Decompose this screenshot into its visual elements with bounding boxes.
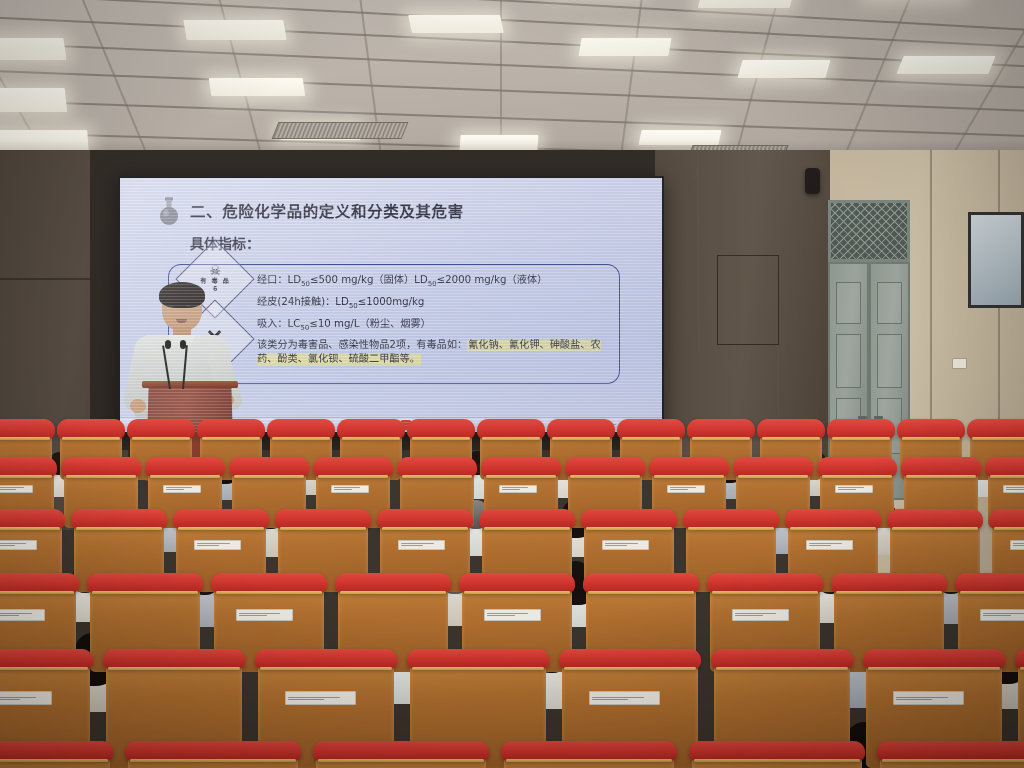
seat-gold-trim <box>622 437 680 440</box>
seat-gold-trim <box>0 475 52 478</box>
seat-gold-trim <box>0 759 108 762</box>
seat-headrest-cushion <box>863 649 1005 669</box>
ceiling-light-panel <box>183 20 287 40</box>
slide-line-inhale: 吸入：LC50≤10 mg/L（粉尘、烟雾） <box>257 317 611 334</box>
seat-headrest-cushion <box>617 419 685 439</box>
seat-gold-trim <box>0 667 88 670</box>
seat-headrest-cushion <box>481 457 561 477</box>
ceiling-rail <box>0 40 1024 91</box>
seat-namecard <box>285 691 356 705</box>
air-vent <box>272 122 409 139</box>
podium-top <box>142 381 238 388</box>
seat-namecard <box>0 485 33 493</box>
seat-gold-trim <box>464 591 570 594</box>
seat-gold-trim <box>716 667 848 670</box>
seat-headrest-cushion <box>407 419 475 439</box>
skull-crossbones-icon: ☠ <box>200 264 230 277</box>
seat-gold-trim <box>178 527 264 530</box>
seat-gold-trim <box>484 527 570 530</box>
seat-headrest-cushion <box>275 509 371 529</box>
seat-gold-trim <box>822 475 892 478</box>
seat-headrest-cushion <box>127 419 195 439</box>
seat-gold-trim <box>0 591 74 594</box>
seat-headrest-cushion <box>967 419 1024 439</box>
seat-headrest-cushion <box>887 509 983 529</box>
seat-headrest-cushion <box>459 573 575 593</box>
seat-gold-trim <box>994 527 1024 530</box>
slide-line-dermal: 经皮(24h接触)：LD50≤1000mg/kg <box>257 295 611 312</box>
seat-gold-trim <box>0 527 60 530</box>
seat-headrest-cushion <box>955 573 1024 593</box>
seat-gold-trim <box>318 475 388 478</box>
seat-headrest-cushion <box>649 457 729 477</box>
seat-headrest-cushion <box>57 419 125 439</box>
side-window <box>968 212 1024 308</box>
seat-gold-trim <box>412 437 470 440</box>
seat-namecard <box>806 540 853 550</box>
seat-gold-trim <box>132 437 190 440</box>
light-switch[interactable] <box>952 358 967 369</box>
seat-headrest-cushion <box>335 573 451 593</box>
seat-headrest-cushion <box>229 457 309 477</box>
seat-gold-trim <box>868 667 1000 670</box>
seat-headrest-cushion <box>407 649 549 669</box>
seat-gold-trim <box>318 759 484 762</box>
seat-headrest-cushion <box>0 649 93 669</box>
seat-gold-trim <box>694 759 860 762</box>
slide-title: 二、危险化学品的定义和分类及其危害 <box>190 200 464 222</box>
seat-headrest-cushion <box>689 741 865 761</box>
seat-namecard <box>602 540 649 550</box>
seat-gold-trim <box>76 527 162 530</box>
ceiling-light-panel <box>578 38 671 56</box>
seat-headrest-cushion <box>103 649 245 669</box>
slide-title-row: 二、危险化学品的定义和分类及其危害 <box>156 196 464 226</box>
slide-line-oral: 经口：LD50≤500 mg/kg（固体）LD50≤2000 mg/kg（液体） <box>257 273 611 290</box>
seat-headrest-cushion <box>0 741 113 761</box>
seat-gold-trim <box>892 527 978 530</box>
seat-namecard <box>236 609 293 621</box>
microphone-head-2 <box>180 340 186 349</box>
seat-gold-trim <box>836 591 942 594</box>
ceiling-light-panel <box>209 78 306 96</box>
presenter-hair <box>159 282 205 308</box>
seat-headrest-cushion <box>71 509 167 529</box>
seat-namecard <box>194 540 241 550</box>
seat-gold-trim <box>66 475 136 478</box>
seat-gold-trim <box>486 475 556 478</box>
seat-gold-trim <box>402 475 472 478</box>
seat-gold-trim <box>762 437 820 440</box>
slide-body-lines: 经口：LD50≤500 mg/kg（固体）LD50≤2000 mg/kg（液体）… <box>257 273 611 367</box>
seat-headrest-cushion <box>785 509 881 529</box>
seat-headrest-cushion <box>711 649 853 669</box>
wall-speaker <box>805 168 820 194</box>
seat-gold-trim <box>586 527 672 530</box>
seat-gold-trim <box>108 667 240 670</box>
seat-gold-trim <box>506 759 672 762</box>
seat-gold-trim <box>738 475 808 478</box>
ceiling-light-panel <box>737 60 830 78</box>
auditorium-seat[interactable] <box>692 750 862 768</box>
seat-headrest-cushion <box>985 457 1024 477</box>
seat-headrest-cushion <box>397 457 477 477</box>
seat-namecard <box>0 609 45 621</box>
seat-gold-trim <box>902 437 960 440</box>
seat-gold-trim <box>92 591 198 594</box>
seat-headrest-cushion <box>173 509 269 529</box>
seat-gold-trim <box>130 759 296 762</box>
seat-headrest-cushion <box>827 419 895 439</box>
auditorium-seat[interactable] <box>880 750 1024 768</box>
seat-headrest-cushion <box>501 741 677 761</box>
slide-line-summary: 该类分为毒害品、感染性物品2项，有毒品如：氰化钠、氰化钾、砷酸盐、农药、酚类、氯… <box>257 339 611 368</box>
seat-headrest-cushion <box>313 457 393 477</box>
seat-headrest-cushion <box>377 509 473 529</box>
seat-gold-trim <box>216 591 322 594</box>
seat-headrest-cushion <box>901 457 981 477</box>
seat-namecard <box>589 691 660 705</box>
seat-namecard <box>163 485 201 493</box>
seat-namecard <box>1003 485 1024 493</box>
seat-headrest-cushion <box>197 419 265 439</box>
seat-gold-trim <box>0 437 50 440</box>
seat-headrest-cushion <box>831 573 947 593</box>
seat-headrest-cushion <box>583 573 699 593</box>
seat-namecard <box>667 485 705 493</box>
seat-gold-trim <box>552 437 610 440</box>
ceiling-light-panel <box>698 0 794 8</box>
seat-namecard <box>0 540 37 550</box>
ceiling-rail <box>0 14 1024 70</box>
seat-gold-trim <box>280 527 366 530</box>
seat-gold-trim <box>564 667 696 670</box>
seat-headrest-cushion <box>267 419 335 439</box>
seat-gold-trim <box>688 527 774 530</box>
seat-headrest-cushion <box>61 457 141 477</box>
seat-headrest-cushion <box>125 741 301 761</box>
seat-headrest-cushion <box>547 419 615 439</box>
seat-headrest-cushion <box>989 509 1024 529</box>
seat-headrest-cushion <box>897 419 965 439</box>
seat-gold-trim <box>832 437 890 440</box>
seat-gold-trim <box>62 437 120 440</box>
seat-gold-trim <box>150 475 220 478</box>
seat-headrest-cushion <box>707 573 823 593</box>
seat-headrest-cushion <box>255 649 397 669</box>
auditorium-seat[interactable] <box>128 750 298 768</box>
seat-gold-trim <box>482 437 540 440</box>
seat-headrest-cushion <box>683 509 779 529</box>
seat-headrest-cushion <box>0 573 79 593</box>
door-transom-grille <box>828 200 910 262</box>
seat-gold-trim <box>882 759 1024 762</box>
seat-headrest-cushion <box>87 573 203 593</box>
seat-gold-trim <box>1020 667 1024 670</box>
ceiling-rail <box>0 0 1024 34</box>
auditorium-seat[interactable] <box>316 750 486 768</box>
seat-headrest-cushion <box>477 419 545 439</box>
seat-headrest-cushion <box>0 509 65 529</box>
seat-namecard <box>1010 540 1024 550</box>
ceiling-light-panel <box>0 38 67 60</box>
seat-headrest-cushion <box>479 509 575 529</box>
seat-headrest-cushion <box>877 741 1024 761</box>
seat-headrest-cushion <box>0 457 57 477</box>
seat-namecard <box>893 691 964 705</box>
seat-headrest-cushion <box>733 457 813 477</box>
seat-headrest-cushion <box>687 419 755 439</box>
ceiling-light-panel <box>0 88 67 112</box>
seat-gold-trim <box>202 437 260 440</box>
seat-namecard <box>499 485 537 493</box>
seat-namecard <box>331 485 369 493</box>
seat-gold-trim <box>692 437 750 440</box>
lecture-hall-scene: 二、危险化学品的定义和分类及其危害 具体指标： ☠ 有 毒 品 6 <box>0 0 1024 768</box>
seat-gold-trim <box>412 667 544 670</box>
seat-namecard <box>980 609 1024 621</box>
seat-gold-trim <box>382 527 468 530</box>
seat-namecard <box>835 485 873 493</box>
seat-gold-trim <box>906 475 976 478</box>
seat-gold-trim <box>272 437 330 440</box>
seat-gold-trim <box>712 591 818 594</box>
seat-gold-trim <box>570 475 640 478</box>
auditorium-seat[interactable] <box>0 750 110 768</box>
seat-headrest-cushion <box>337 419 405 439</box>
seat-gold-trim <box>960 591 1024 594</box>
flask-icon <box>156 196 182 226</box>
seat-gold-trim <box>260 667 392 670</box>
seat-gold-trim <box>340 591 446 594</box>
wall-recessed-panel <box>717 255 779 345</box>
seat-namecard <box>484 609 541 621</box>
ceiling-light-panel <box>896 56 995 74</box>
audience-seating <box>0 400 1024 768</box>
seat-headrest-cushion <box>581 509 677 529</box>
seat-gold-trim <box>972 437 1024 440</box>
seat-headrest-cushion <box>0 419 55 439</box>
seat-headrest-cushion <box>817 457 897 477</box>
seat-namecard <box>398 540 445 550</box>
seat-namecard <box>732 609 789 621</box>
seat-gold-trim <box>234 475 304 478</box>
microphone-head-1 <box>165 340 171 349</box>
seat-headrest-cushion <box>145 457 225 477</box>
auditorium-seat[interactable] <box>504 750 674 768</box>
seat-gold-trim <box>588 591 694 594</box>
seat-namecard <box>0 691 52 705</box>
seat-headrest-cushion <box>211 573 327 593</box>
seat-gold-trim <box>342 437 400 440</box>
ceiling-light-panel <box>408 15 504 33</box>
seat-gold-trim <box>990 475 1024 478</box>
seat-headrest-cushion <box>313 741 489 761</box>
seat-gold-trim <box>790 527 876 530</box>
slide-content-box: ☠ 有 毒 品 6 ✕ 经口：LD50≤500 mg/kg（固体）LD50≤20… <box>168 264 620 384</box>
seat-headrest-cushion <box>559 649 701 669</box>
seat-gold-trim <box>654 475 724 478</box>
seat-headrest-cushion <box>565 457 645 477</box>
seat-headrest-cushion <box>757 419 825 439</box>
